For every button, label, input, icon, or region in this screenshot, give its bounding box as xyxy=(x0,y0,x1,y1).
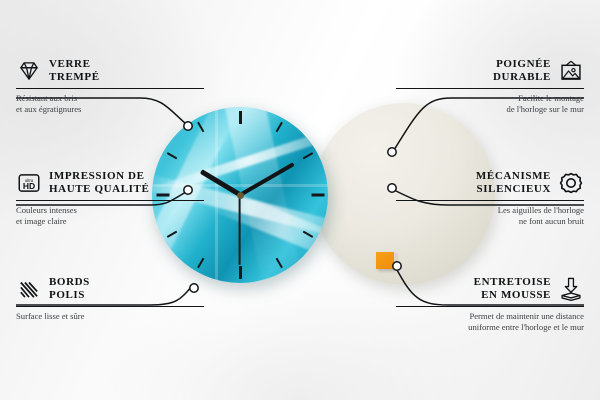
feature-heading: MÉCANISME SILENCIEUX xyxy=(396,170,584,196)
feature-title-line2: TREMPÉ xyxy=(49,71,100,84)
polished-edges-icon xyxy=(16,276,42,302)
feature-title-line2: DURABLE xyxy=(493,71,551,84)
feature-heading: VERRE TREMPÉ xyxy=(16,58,204,84)
feature-desc-line2: uniforme entre l'horloge et le mur xyxy=(396,322,584,333)
feature-divider xyxy=(16,200,204,201)
feature-description: Permet de maintenir une distance uniform… xyxy=(396,311,584,333)
feature-desc-line1: Permet de maintenir une distance xyxy=(396,311,584,322)
feature-description: Facilite le montage de l'horloge sur le … xyxy=(396,93,584,115)
feature-title-line1: ENTRETOISE xyxy=(474,276,551,289)
diamond-icon xyxy=(16,58,42,84)
feature-divider xyxy=(16,306,204,307)
feature-desc-line1: Résistant aux bris xyxy=(16,93,204,104)
feature-title-line2: HAUTE QUALITÉ xyxy=(49,183,149,196)
feature-desc-line2: ne font aucun bruit xyxy=(396,216,584,227)
feature-title: MÉCANISME SILENCIEUX xyxy=(476,170,551,196)
clock-tick xyxy=(239,266,242,279)
feature-desc-line1: Les aiguilles de l'horloge xyxy=(396,205,584,216)
feature-title-line1: MÉCANISME xyxy=(476,170,551,183)
second-hand xyxy=(239,195,241,265)
feature-description: Surface lisse et sûre xyxy=(16,311,204,322)
svg-text:HD: HD xyxy=(23,181,35,191)
feature-title-line2: POLIS xyxy=(49,289,90,302)
feature-bords-polis: BORDS POLIS Surface lisse et sûre xyxy=(16,276,204,322)
feature-title: BORDS POLIS xyxy=(49,276,90,302)
feature-desc-line1: Facilite le montage xyxy=(396,93,584,104)
feature-divider xyxy=(396,200,584,201)
feature-heading: POIGNÉE DURABLE xyxy=(396,58,584,84)
feature-title-line1: VERRE xyxy=(49,58,100,71)
feature-title: IMPRESSION DE HAUTE QUALITÉ xyxy=(49,170,149,196)
clock-tick xyxy=(311,194,324,197)
feature-title: POIGNÉE DURABLE xyxy=(493,58,551,84)
feature-desc-line2: de l'horloge sur le mur xyxy=(396,104,584,115)
feature-desc-line2: et aux égratignures xyxy=(16,104,204,115)
foam-spacer-icon xyxy=(558,276,584,302)
feature-verre-trempe: VERRE TREMPÉ Résistant aux bris et aux é… xyxy=(16,58,204,115)
feature-description: Couleurs intenses et image claire xyxy=(16,205,204,227)
feature-impression-haute-qualite: ultra HD IMPRESSION DE HAUTE QUALITÉ Cou… xyxy=(16,170,204,227)
feature-poignee-durable: POIGNÉE DURABLE Facilite le montage de l… xyxy=(396,58,584,115)
feature-title: ENTRETOISE EN MOUSSE xyxy=(474,276,551,302)
feature-desc-line1: Surface lisse et sûre xyxy=(16,311,204,322)
feature-heading: ultra HD IMPRESSION DE HAUTE QUALITÉ xyxy=(16,170,204,196)
feature-divider xyxy=(396,88,584,89)
infographic-canvas: VERRE TREMPÉ Résistant aux bris et aux é… xyxy=(0,0,600,400)
ultra-hd-icon: ultra HD xyxy=(16,170,42,196)
feature-divider xyxy=(396,306,584,307)
foam-spacer xyxy=(376,252,394,269)
feature-title: VERRE TREMPÉ xyxy=(49,58,100,84)
hanging-frame-icon xyxy=(558,58,584,84)
clock-hub xyxy=(237,192,244,199)
feature-title-line2: SILENCIEUX xyxy=(476,183,551,196)
feature-entretoise-en-mousse: ENTRETOISE EN MOUSSE Permet de maintenir… xyxy=(396,276,584,333)
feature-title-line1: BORDS xyxy=(49,276,90,289)
feature-description: Résistant aux bris et aux égratignures xyxy=(16,93,204,115)
clock-tick xyxy=(239,111,242,124)
feature-divider xyxy=(16,88,204,89)
feature-title-line2: EN MOUSSE xyxy=(474,289,551,302)
feature-desc-line1: Couleurs intenses xyxy=(16,205,204,216)
feature-desc-line2: et image claire xyxy=(16,216,204,227)
clock-tick xyxy=(303,152,314,159)
feature-heading: BORDS POLIS xyxy=(16,276,204,302)
gear-icon xyxy=(558,170,584,196)
feature-description: Les aiguilles de l'horloge ne font aucun… xyxy=(396,205,584,227)
feature-title-line1: IMPRESSION DE xyxy=(49,170,149,183)
feature-title-line1: POIGNÉE xyxy=(493,58,551,71)
feature-mecanisme-silencieux: MÉCANISME SILENCIEUX Les aiguilles de l'… xyxy=(396,170,584,227)
feature-heading: ENTRETOISE EN MOUSSE xyxy=(396,276,584,302)
